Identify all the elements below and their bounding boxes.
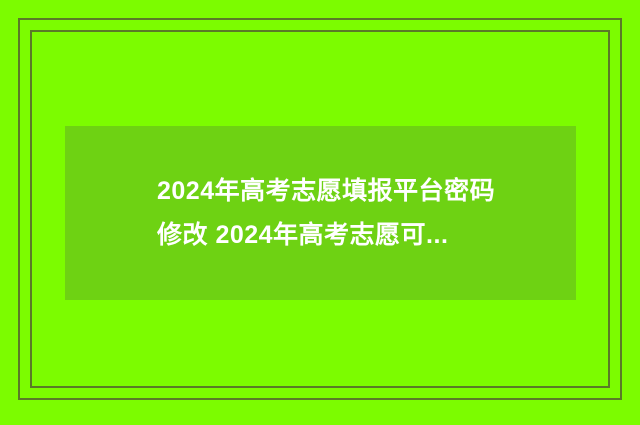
headline-line-1: 2024年高考志愿填报平台密码 — [157, 169, 495, 213]
headline-line-2: 修改 2024年高考志愿可... — [157, 213, 448, 257]
headline-panel: 2024年高考志愿填报平台密码 修改 2024年高考志愿可... — [65, 126, 576, 300]
thumbnail-card: 2024年高考志愿填报平台密码 修改 2024年高考志愿可... — [0, 0, 640, 425]
